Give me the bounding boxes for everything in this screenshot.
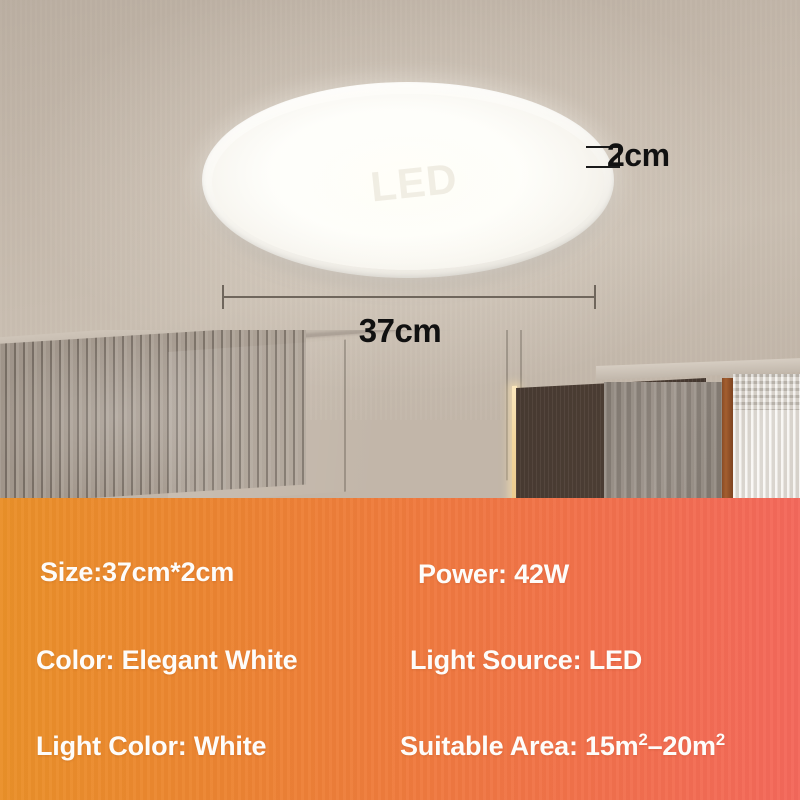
spec-light-color: Light Color: White bbox=[36, 731, 266, 762]
panel-seam bbox=[506, 330, 508, 480]
spec-size: Size:37cm*2cm bbox=[40, 557, 234, 588]
spec-power: Power: 42W bbox=[418, 559, 569, 590]
room-background bbox=[0, 330, 800, 500]
grey-curtain bbox=[604, 382, 724, 500]
spec-color: Color: Elegant White bbox=[36, 645, 298, 676]
wood-window-frame bbox=[722, 378, 733, 500]
sheer-curtain-folds bbox=[733, 374, 800, 500]
spec-suitable-area-sup2: 2 bbox=[716, 730, 725, 749]
diameter-dimension-label: 37cm bbox=[0, 312, 800, 350]
spec-suitable-area-mid: –20m bbox=[648, 731, 716, 761]
product-image-canvas: LED 2cm 37cm Size:37cm*2cm Power: 42W Co… bbox=[0, 0, 800, 800]
curtain-folds bbox=[604, 382, 724, 500]
led-watermark: LED bbox=[350, 134, 478, 232]
product-photo: LED 2cm 37cm bbox=[0, 0, 800, 500]
spec-suitable-area-text: Suitable Area: 15m bbox=[400, 731, 639, 761]
thickness-dimension-label: 2cm bbox=[607, 137, 670, 174]
led-ceiling-lamp: LED bbox=[202, 82, 614, 284]
panel-seam bbox=[344, 340, 346, 492]
sheer-curtain bbox=[733, 374, 800, 500]
diameter-tick-left bbox=[222, 285, 224, 309]
diameter-dimension-line-icon bbox=[222, 296, 596, 298]
spec-light-source: Light Source: LED bbox=[410, 645, 642, 676]
spec-suitable-area: Suitable Area: 15m2–20m2 bbox=[400, 731, 725, 762]
diameter-tick-right bbox=[594, 285, 596, 309]
panel-highlight bbox=[168, 330, 528, 500]
spec-suitable-area-sup1: 2 bbox=[639, 730, 648, 749]
cabinet-wall-panels bbox=[168, 330, 528, 500]
